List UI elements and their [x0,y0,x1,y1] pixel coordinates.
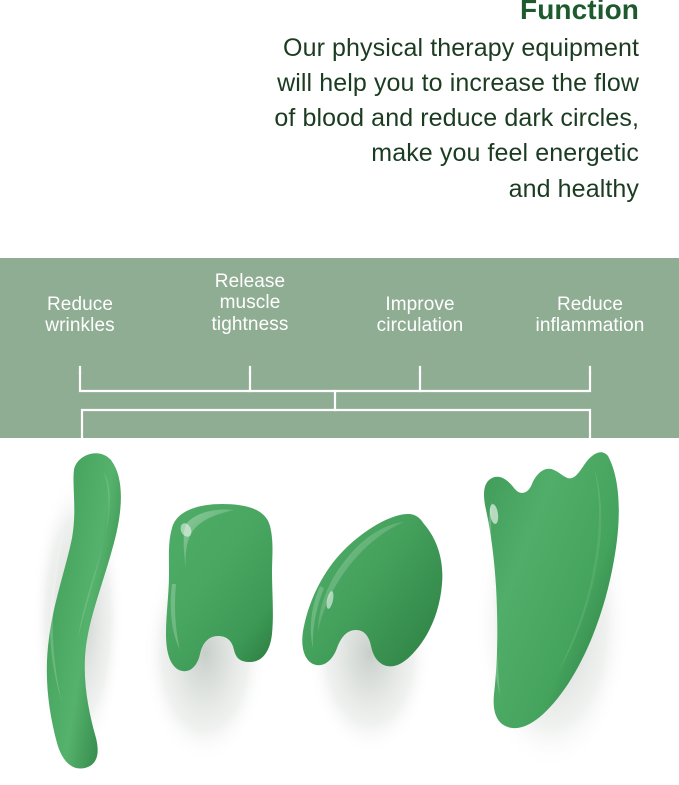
bracket-connector-diagram [0,358,679,438]
benefit-1-line-2: muscle [212,292,289,313]
benefit-1-line-1: Release [212,271,289,292]
benefits-band: Reduce wrinkles Release muscle tightness… [0,258,679,438]
product-infographic-page: Function Our physical therapy equipment … [0,0,679,785]
benefit-0-line-1: Reduce [45,294,114,315]
intro-line-5: and healthy [0,172,639,207]
intro-line-3: of blood and reduce dark circles, [0,101,639,136]
intro-description: Our physical therapy equipment will help… [0,31,639,207]
benefit-1-line-3: tightness [212,314,289,335]
benefit-reduce-inflammation: Reduce inflammation [536,294,645,337]
intro-line-1: Our physical therapy equipment [0,31,639,66]
intro-line-4: make you feel energetic [0,136,639,171]
intro-line-2: will help you to increase the flow [0,66,639,101]
benefit-2-line-2: circulation [377,315,464,336]
page-title: Function [0,0,639,25]
product-photo [0,438,679,785]
benefit-3-line-2: inflammation [536,315,645,336]
benefit-2-line-1: Improve [377,294,464,315]
benefit-3-line-1: Reduce [536,294,645,315]
gua-sha-stone-set [0,438,679,785]
benefit-reduce-wrinkles: Reduce wrinkles [45,294,114,337]
intro-block: Function Our physical therapy equipment … [0,0,679,207]
benefits-label-row: Reduce wrinkles Release muscle tightness… [0,258,679,358]
benefit-0-line-2: wrinkles [45,315,114,336]
benefit-improve-circulation: Improve circulation [377,294,464,337]
bracket-upper-rail [80,373,590,391]
bracket-lower-rail [82,410,590,438]
benefit-release-muscle-tightness: Release muscle tightness [212,271,289,335]
